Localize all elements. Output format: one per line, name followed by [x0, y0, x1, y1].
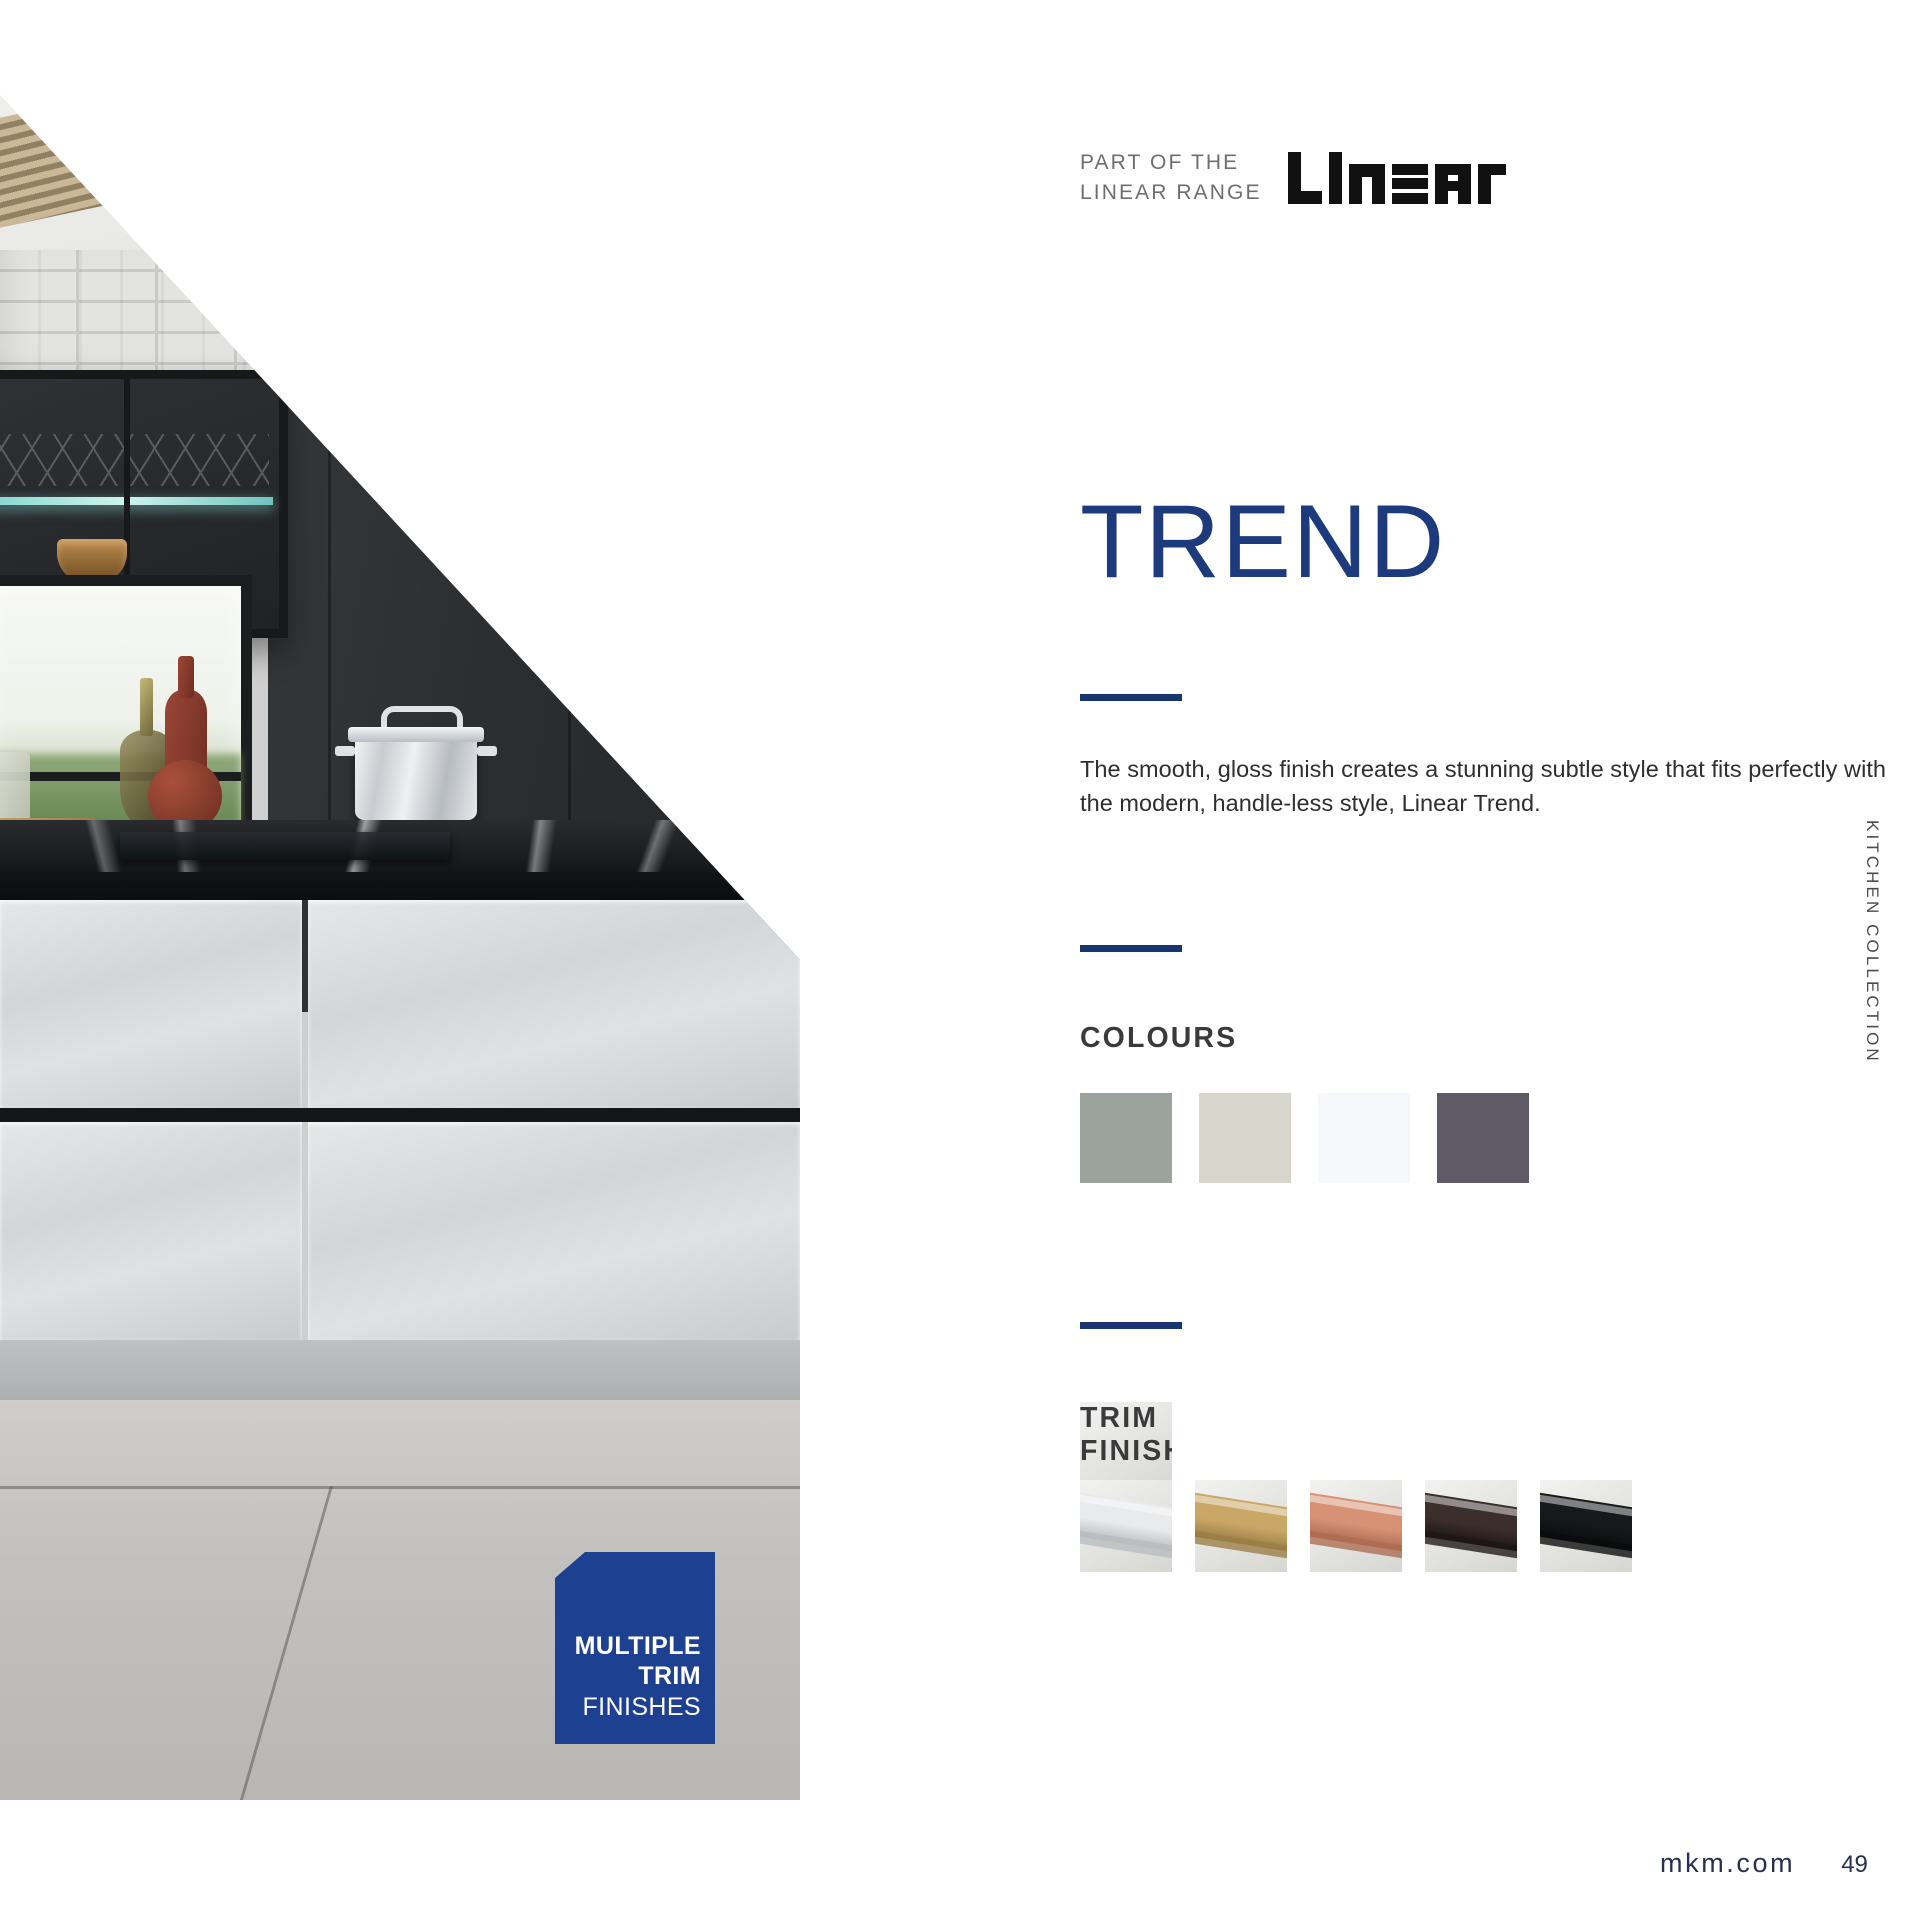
- glass-pattern: [0, 434, 269, 486]
- range-kicker: PART OF THE LINEAR RANGE: [1080, 148, 1262, 209]
- range-kicker-line1: PART OF THE: [1080, 148, 1262, 178]
- trim-finish-silver[interactable]: [1080, 1480, 1172, 1572]
- logo-letter-l: [1288, 152, 1322, 204]
- kitchen-photo: [0, 0, 800, 1800]
- range-kicker-line2: LINEAR RANGE: [1080, 178, 1262, 208]
- pot-lid: [348, 727, 484, 742]
- divider-rule-colours: [1080, 945, 1182, 952]
- colours-heading: COLOURS: [1080, 1022, 1237, 1055]
- colour-swatch-list: [1080, 1093, 1529, 1183]
- content-column: PART OF THE LINEAR RANGE TREND The smoot…: [975, 0, 1920, 1920]
- induction-hob: [120, 832, 450, 860]
- logo-letter-n: [1349, 164, 1385, 204]
- floor-grout-line: [0, 1486, 800, 1489]
- linear-logo: [1288, 152, 1506, 204]
- drawer-front: [0, 900, 302, 1108]
- trim-finish-gold[interactable]: [1195, 1480, 1287, 1572]
- website-url[interactable]: mkm.com: [1660, 1848, 1795, 1879]
- badge-line-2: TRIM: [638, 1661, 701, 1692]
- badge-line-1: MULTIPLE: [575, 1631, 701, 1662]
- trim-finish-copper[interactable]: [1310, 1480, 1402, 1572]
- trim-finish-list: [1080, 1480, 1632, 1572]
- logo-letter-r: [1478, 164, 1506, 204]
- stainless-pot: [355, 738, 477, 820]
- page-number: 49: [1841, 1851, 1868, 1879]
- glass-jar: [0, 752, 30, 822]
- drawer-front: [308, 900, 800, 1108]
- drawer-front: [308, 1122, 800, 1340]
- drawer-front: [0, 1122, 302, 1340]
- page-footer: mkm.com 49: [1660, 1848, 1868, 1879]
- colour-swatch-white[interactable]: [1318, 1093, 1410, 1183]
- drawer-bank: [0, 900, 800, 1400]
- multiple-trim-finishes-badge: MULTIPLE TRIM FINISHES: [555, 1552, 715, 1744]
- colour-swatch-greige[interactable]: [1199, 1093, 1291, 1183]
- colour-swatch-graphite[interactable]: [1437, 1093, 1529, 1183]
- colour-swatch-sage-grey[interactable]: [1080, 1093, 1172, 1183]
- lit-glass-shelf: [0, 497, 273, 505]
- badge-line-3: FINISHES: [583, 1692, 702, 1723]
- floor-grout-line: [238, 1486, 333, 1800]
- catalogue-page: MULTIPLE TRIM FINISHES PART OF THE LINEA…: [0, 0, 1920, 1920]
- logo-letter-e: [1392, 164, 1428, 204]
- handleless-rail: [0, 1108, 800, 1122]
- kitchen-photo-canvas: [0, 0, 800, 1800]
- pot-ear: [477, 746, 497, 756]
- range-header: PART OF THE LINEAR RANGE: [1080, 148, 1506, 209]
- section-tab-label: KITCHEN COLLECTION: [1862, 820, 1882, 1064]
- logo-letter-i: [1329, 152, 1342, 204]
- divider-rule-title: [1080, 694, 1182, 701]
- intro-paragraph: The smooth, gloss finish creates a stunn…: [1080, 752, 1915, 821]
- page-title: TREND: [1080, 490, 1446, 594]
- trim-finish-black[interactable]: [1540, 1480, 1632, 1572]
- logo-letter-a: [1435, 164, 1471, 204]
- divider-rule-trim: [1080, 1322, 1182, 1329]
- trim-finish-bronze[interactable]: [1425, 1480, 1517, 1572]
- ceiling-slats: [0, 90, 130, 230]
- pot-ear: [335, 746, 355, 756]
